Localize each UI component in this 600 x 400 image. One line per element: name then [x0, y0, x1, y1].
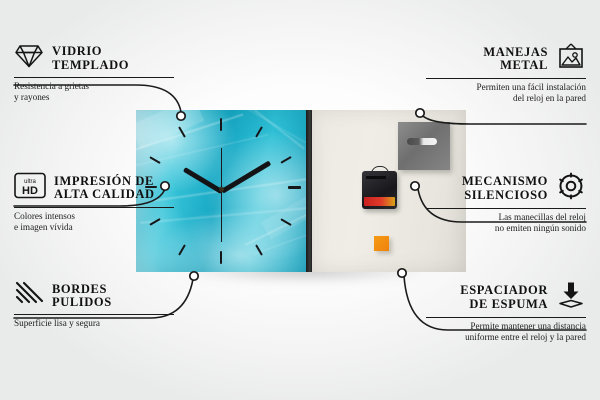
feature-subtitle: Superficie lisa y segura [14, 318, 174, 329]
diamond-icon [14, 43, 44, 74]
orange-foam-spacer [374, 236, 389, 251]
feature-title: BORDES PULIDOS [52, 283, 112, 310]
ultra-hd-icon: ultra HD [14, 172, 46, 204]
feature-divider [14, 314, 174, 315]
feature-manejas-metal: MANEJAS METAL Permiten una fácil instala… [426, 43, 586, 104]
infographic-canvas: VIDRIO TEMPLADO Resistencia a grietas y … [0, 0, 600, 400]
feature-divider [426, 208, 586, 209]
svg-text:HD: HD [22, 185, 38, 197]
feature-impresion-alta-calidad: ultra HD IMPRESIÓN DE ALTA CALIDAD Color… [14, 172, 174, 233]
clock-movement-box [362, 171, 397, 209]
feature-vidrio-templado: VIDRIO TEMPLADO Resistencia a grietas y … [14, 43, 174, 103]
minute-hand [220, 161, 271, 194]
feature-mecanismo-silencioso: MECANISMO SILENCIOSO Las manecillas del … [426, 172, 586, 234]
feature-subtitle: Permiten una fácil instalación del reloj… [426, 82, 586, 104]
feature-title: MANEJAS METAL [483, 46, 548, 73]
hanger-slot [407, 138, 437, 145]
movement-notch [366, 176, 386, 179]
hour-hand [182, 167, 222, 194]
feature-subtitle: Resistencia a grietas y rayones [14, 81, 174, 103]
hanger-loop [371, 166, 389, 176]
feature-subtitle: Permite mantener una distancia uniforme … [426, 321, 586, 343]
clock-center-pivot [219, 187, 224, 192]
feature-divider [426, 78, 586, 79]
feature-subtitle: Las manecillas del reloj no emiten ningú… [426, 212, 586, 234]
feature-divider [426, 317, 586, 318]
feature-title: VIDRIO TEMPLADO [52, 45, 129, 72]
feature-title: MECANISMO SILENCIOSO [462, 175, 548, 202]
battery [364, 197, 395, 206]
feature-espaciador-espuma: ESPACIADOR DE ESPUMA Permite mantener un… [426, 281, 586, 343]
feature-bordes-pulidos: BORDES PULIDOS Superficie lisa y segura [14, 281, 174, 329]
feature-subtitle: Colores intensos e imagen vívida [14, 211, 174, 233]
picture-hanger-icon [556, 43, 586, 75]
feature-divider [14, 207, 174, 208]
polished-edges-icon [14, 281, 44, 311]
metal-hanger-plate [398, 122, 450, 170]
feature-title: ESPACIADOR DE ESPUMA [460, 284, 548, 311]
second-hand [221, 148, 222, 242]
gear-icon [556, 172, 586, 205]
feature-divider [14, 77, 174, 78]
foam-spacer-icon [556, 281, 586, 314]
feature-title: IMPRESIÓN DE ALTA CALIDAD [54, 175, 155, 202]
